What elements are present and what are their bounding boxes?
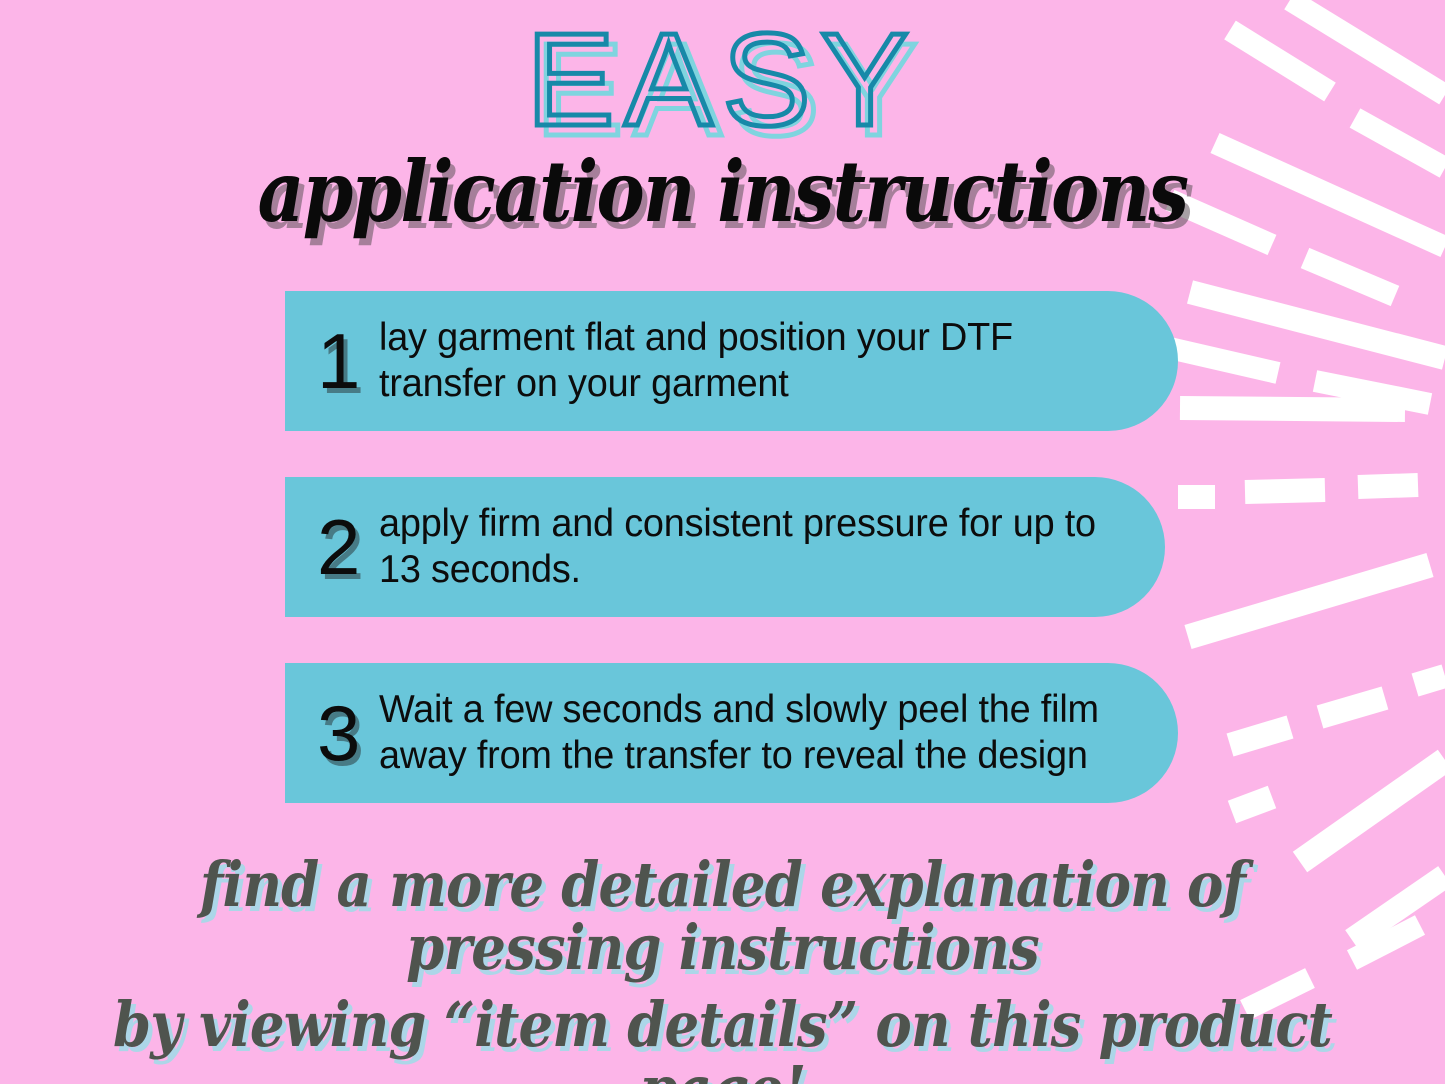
headline-main-layer: EASY	[526, 6, 918, 153]
instruction-poster: EASY EASY application instructions 1 lay…	[0, 0, 1445, 1084]
step-number-1: 1	[317, 322, 379, 400]
subtitle-container: application instructions	[0, 150, 1445, 234]
step-item-2: 2 apply firm and consistent pressure for…	[285, 477, 1165, 617]
step-item-3: 3 Wait a few seconds and slowly peel the…	[285, 663, 1178, 803]
footer-line-2: by viewing “item details” on this produc…	[87, 993, 1359, 1084]
step-item-1: 1 lay garment flat and position your DTF…	[285, 291, 1178, 431]
step-text-3: Wait a few seconds and slowly peel the f…	[379, 687, 1154, 779]
page-subtitle: application instructions	[258, 150, 1188, 234]
footer-line-1: find a more detailed explanation of pres…	[87, 853, 1359, 979]
headline-container: EASY EASY	[0, 14, 1445, 146]
steps-list: 1 lay garment flat and position your DTF…	[285, 291, 1185, 849]
page-title: EASY EASY	[526, 14, 918, 146]
step-text-2: apply firm and consistent pressure for u…	[379, 501, 1141, 593]
step-number-2: 2	[317, 508, 379, 586]
step-text-1: lay garment flat and position your DTF t…	[379, 315, 1154, 407]
footer-note: find a more detailed explanation of pres…	[0, 853, 1445, 1084]
step-number-3: 3	[317, 694, 379, 772]
